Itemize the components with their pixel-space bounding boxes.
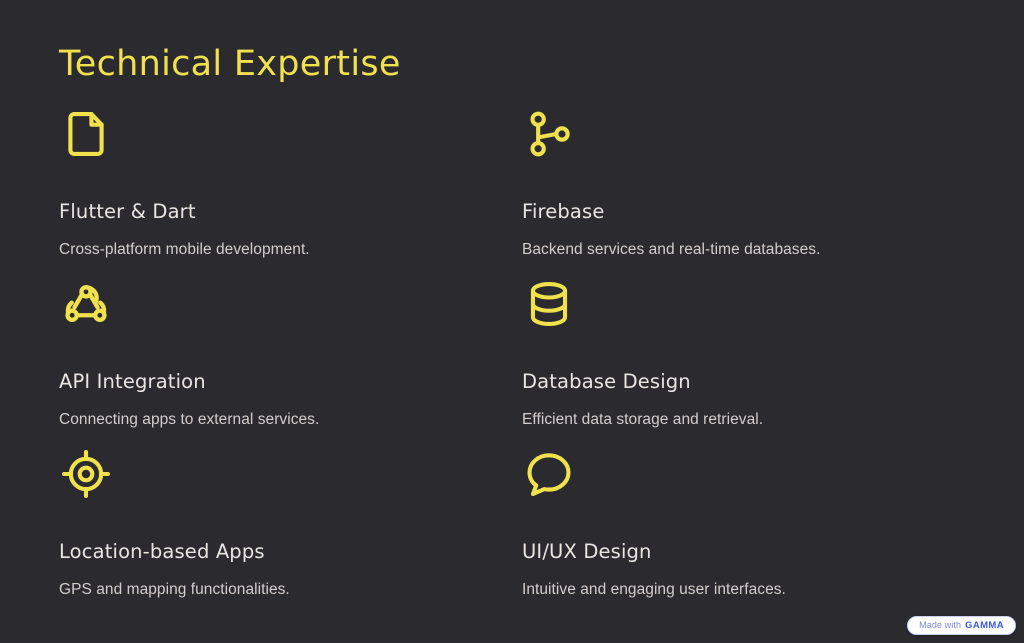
skill-card-description: Cross-platform mobile development. <box>59 240 522 260</box>
skill-card-description: Connecting apps to external services. <box>59 410 522 430</box>
skill-card-title: Location-based Apps <box>59 540 522 563</box>
skill-card-title: Firebase <box>522 200 965 223</box>
skill-card-description: GPS and mapping functionalities. <box>59 580 522 600</box>
skill-card-title: Database Design <box>522 370 965 393</box>
crosshair-location-icon <box>60 448 112 500</box>
skills-grid: Flutter & Dart Cross-platform mobile dev… <box>59 108 965 618</box>
skill-card-description: Efficient data storage and retrieval. <box>522 410 965 430</box>
page-title: Technical Expertise <box>59 44 401 85</box>
git-branch-icon <box>523 108 575 160</box>
document-icon <box>60 108 112 160</box>
skill-card-flutter-dart: Flutter & Dart Cross-platform mobile dev… <box>59 108 522 278</box>
skill-card-title: API Integration <box>59 370 522 393</box>
made-with-gamma-badge[interactable]: Made with GAMMA <box>907 616 1016 635</box>
skill-card-title: UI/UX Design <box>522 540 965 563</box>
badge-made-with-label: Made with <box>919 621 961 630</box>
skill-card-database-design: Database Design Efficient data storage a… <box>522 278 965 448</box>
skill-card-title: Flutter & Dart <box>59 200 522 223</box>
webhook-icon <box>60 278 112 330</box>
skill-card-firebase: Firebase Backend services and real-time … <box>522 108 965 278</box>
slide-root: Technical Expertise Flutter & Dart Cross… <box>0 0 1024 643</box>
skill-card-location-based-apps: Location-based Apps GPS and mapping func… <box>59 448 522 618</box>
database-icon <box>523 278 575 330</box>
skill-card-api-integration: API Integration Connecting apps to exter… <box>59 278 522 448</box>
badge-brand-label: GAMMA <box>965 621 1004 631</box>
skill-card-ui-ux-design: UI/UX Design Intuitive and engaging user… <box>522 448 965 618</box>
skill-card-description: Backend services and real-time databases… <box>522 240 965 260</box>
speech-bubble-icon <box>523 448 575 500</box>
skill-card-description: Intuitive and engaging user interfaces. <box>522 580 965 600</box>
